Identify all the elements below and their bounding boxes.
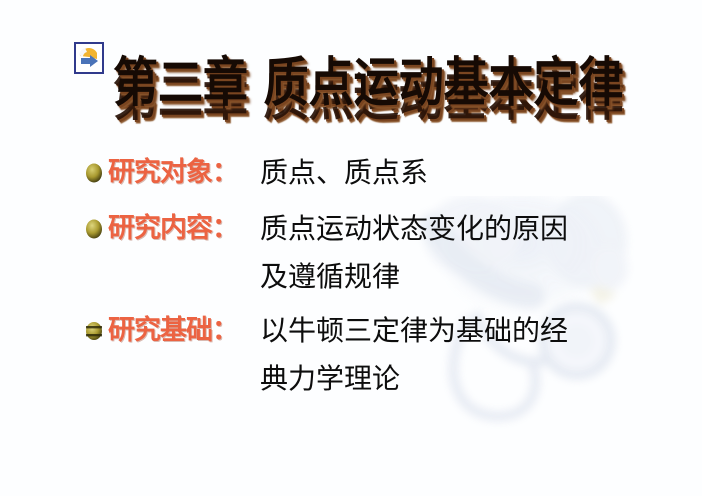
list-item-label: 研究内容： (108, 206, 260, 252)
slide-title-wrap: 第二章 质点运动基本定律 第二章 质点运动基本定律 (0, 52, 702, 132)
slide-canvas: 第二章 质点运动基本定律 第二章 质点运动基本定律 (0, 0, 702, 496)
list-item-text-cont: 及遵循规律 (260, 254, 702, 300)
list-item-text: 以牛顿三定律为基础的经 (260, 308, 702, 354)
list-item-label: 研究对象： (108, 150, 260, 196)
bullet-list: 研究对象： 质点、质点系 (0, 150, 702, 402)
list-item-text-cont: 典力学理论 (260, 356, 702, 402)
sphere-bullet-icon (84, 218, 104, 240)
list-item-label: 研究基础： (108, 308, 260, 354)
list-spacer (0, 198, 702, 206)
list-item-text: 质点、质点系 (260, 150, 702, 196)
list-item: 研究基础： 以牛顿三定律为基础的经 典力学理论 (0, 308, 702, 402)
page-title: 第二章 质点运动基本定律 (113, 52, 573, 113)
sphere-bullet-icon (84, 162, 104, 184)
list-spacer (0, 300, 702, 308)
banded-sphere-bullet-icon (84, 320, 104, 342)
list-item-text: 质点运动状态变化的原因 (260, 206, 702, 252)
list-item: 研究对象： 质点、质点系 (0, 150, 702, 198)
list-item: 研究内容： 质点运动状态变化的原因 及遵循规律 (0, 206, 702, 300)
